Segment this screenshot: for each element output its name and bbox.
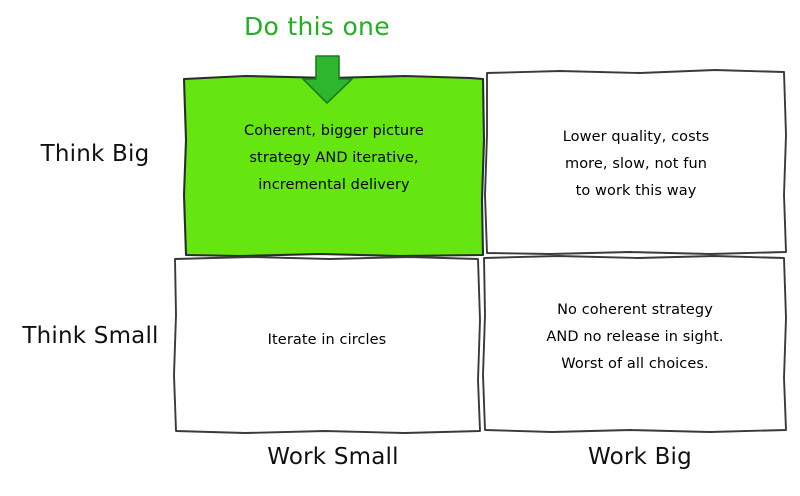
quadrant-text-line: Worst of all choices. (561, 351, 709, 378)
quadrant-text-think-small-work-small: Iterate in circles (176, 327, 478, 354)
quadrant-text-line: Iterate in circles (268, 327, 387, 354)
quadrant-text-think-small-work-big: No coherent strategy AND no release in s… (485, 297, 785, 378)
quadrant-text-line: more, slow, not fun (565, 151, 707, 178)
callout-do-this-one: Do this one (244, 12, 390, 41)
quadrant-text-line: to work this way (576, 178, 697, 205)
quadrant-text-line: No coherent strategy (557, 297, 713, 324)
quadrant-text-line: strategy AND iterative, (249, 145, 418, 172)
axis-label-think-big: Think Big (20, 141, 170, 167)
quadrant-text-line: AND no release in sight. (546, 324, 723, 351)
quadrant-text-line: Lower quality, costs (563, 124, 710, 151)
quadrant-text-think-big-work-big: Lower quality, costs more, slow, not fun… (487, 124, 785, 205)
diagram-canvas: Do this one Think Big Think Small Work S… (0, 0, 800, 496)
quadrant-text-line: Coherent, bigger picture (244, 118, 424, 145)
quadrant-grid (0, 0, 800, 496)
axis-label-think-small: Think Small (8, 323, 173, 349)
axis-label-work-big: Work Big (560, 444, 720, 470)
quadrant-text-line: incremental delivery (258, 172, 409, 199)
axis-label-work-small: Work Small (238, 444, 428, 470)
quadrant-text-think-big-work-small: Coherent, bigger picture strategy AND it… (186, 118, 482, 199)
